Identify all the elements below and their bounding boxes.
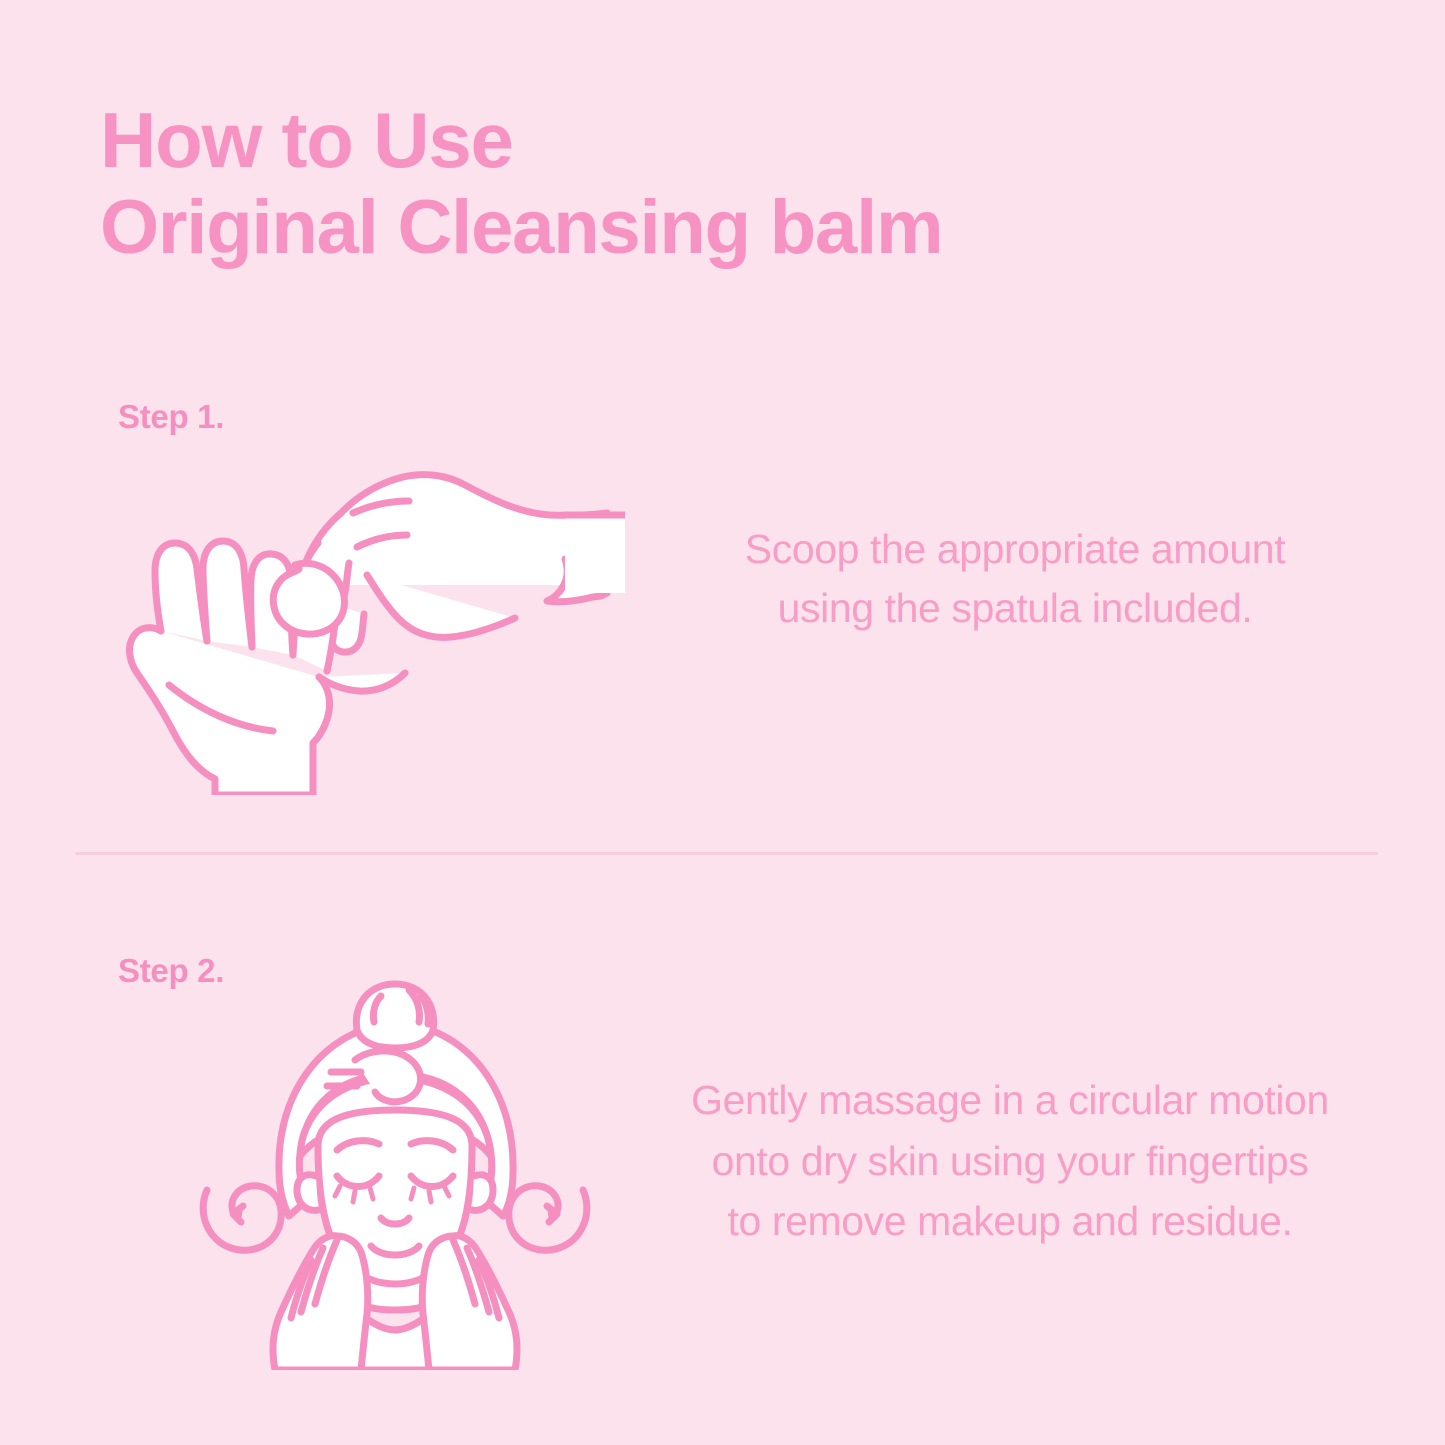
step-1-label: Step 1. — [118, 398, 224, 436]
step-2-text-line-3: to remove makeup and residue. — [630, 1191, 1390, 1252]
step-1-text-line-1: Scoop the appropriate amount — [655, 520, 1375, 579]
step-1-section: Step 1. — [0, 380, 1445, 820]
hands-scooping-balm-icon — [95, 435, 625, 795]
page-title-line-2: Original Cleansing balm — [100, 185, 1220, 272]
woman-massaging-face-icon — [185, 950, 605, 1370]
step-2-text-line-1: Gently massage in a circular motion — [630, 1070, 1390, 1131]
step-1-text-line-2: using the spatula included. — [655, 579, 1375, 638]
page-title-line-1: How to Use — [100, 96, 1220, 185]
how-to-use-infographic: How to Use Original Cleansing balm Step … — [0, 0, 1445, 1445]
step-1-description: Scoop the appropriate amount using the s… — [655, 520, 1375, 639]
page-title: How to Use Original Cleansing balm — [100, 96, 1220, 272]
step-2-description: Gently massage in a circular motion onto… — [630, 1070, 1390, 1252]
section-divider — [75, 852, 1378, 855]
step-2-text-line-2: onto dry skin using your fingertips — [630, 1131, 1390, 1192]
step-2-section: Step 2. — [0, 930, 1445, 1390]
